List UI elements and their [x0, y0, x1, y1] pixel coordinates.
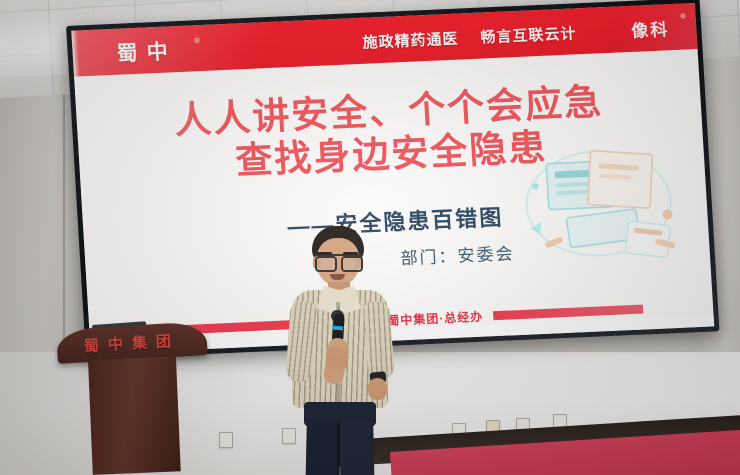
glasses-lens-left: [315, 256, 337, 272]
sleeve-stripes-left: [285, 301, 317, 383]
corner-badge-registered-mark: ®: [680, 13, 686, 20]
slogan-spacer: [459, 43, 481, 44]
corner-brand-badge: 像科 ®: [603, 3, 698, 53]
sleeve-stripes-right: [363, 301, 396, 381]
slogan-left-text: 施政精药通医: [362, 31, 459, 52]
podium-label: 蜀中集团: [56, 328, 207, 358]
corner-badge-text: 像科: [630, 15, 669, 42]
speaker-eyebrow-left: [317, 252, 332, 255]
microphone-indicator-band: [332, 326, 343, 331]
wall-outlet: [219, 432, 233, 448]
speaker-eyebrow-right: [343, 252, 358, 255]
presentation-photo-scene: 蜀中 ® 施政精药通医畅言互联云计 像科 ®: [0, 0, 740, 475]
brand-registered-mark: ®: [194, 36, 200, 45]
speaker-leg-right: [339, 420, 375, 475]
glasses-lens-right: [341, 256, 363, 272]
speaker-glasses: [315, 254, 361, 268]
speaker-person: [282, 226, 400, 475]
slogan-right-text: 畅言互联云计: [480, 25, 577, 46]
brand-logo: 蜀中: [116, 35, 178, 68]
speaker-leg-left: [305, 420, 340, 475]
speaker-trouser-gap: [337, 422, 340, 475]
podium-body: [88, 356, 181, 475]
